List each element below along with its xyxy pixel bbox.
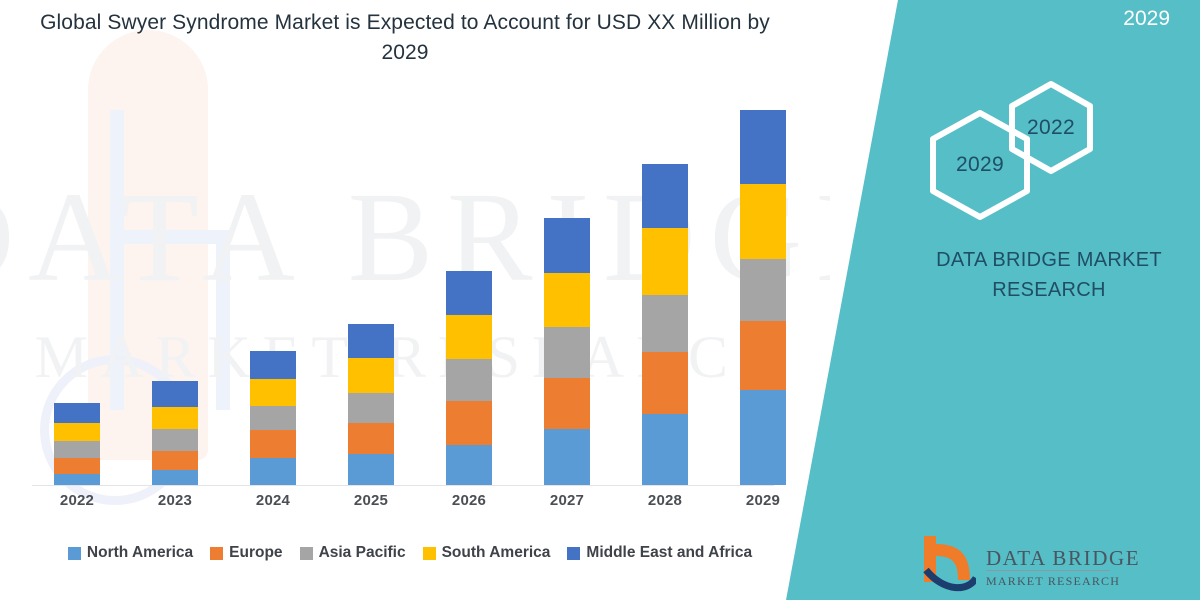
bar-segment-middle-east-and-africa	[740, 110, 786, 184]
plot-area	[40, 110, 800, 485]
bar-2024	[250, 351, 296, 485]
brand-name: DATA BRIDGE MARKET RESEARCH	[898, 245, 1200, 305]
bar-segment-north-america	[446, 445, 492, 485]
bar-segment-north-america	[642, 414, 688, 485]
bar-segment-middle-east-and-africa	[152, 381, 198, 407]
legend-swatch-icon	[423, 547, 436, 560]
bar-segment-north-america	[740, 390, 786, 485]
hexagon-group: 2029 2022	[898, 88, 1200, 218]
bar-segment-europe	[740, 321, 786, 391]
bar-segment-asia-pacific	[152, 429, 198, 450]
bar-segment-north-america	[152, 470, 198, 485]
footer-logo: DATA BRIDGE MARKET RESEARCH	[920, 534, 1200, 600]
bar-segment-south-america	[446, 315, 492, 359]
legend-item-south-america[interactable]: South America	[423, 544, 551, 562]
bar-segment-europe	[54, 458, 100, 474]
infographic-canvas: DATA BRIDGE MARKET RESEARCH Global Swyer…	[0, 0, 1200, 600]
bar-segment-asia-pacific	[544, 327, 590, 378]
bar-segment-north-america	[250, 458, 296, 485]
x-axis-label-2024: 2024	[250, 492, 296, 522]
legend-item-asia-pacific[interactable]: Asia Pacific	[300, 544, 406, 562]
legend-label: Asia Pacific	[319, 544, 406, 562]
panel-title: Market, By Regions, 2022 to 2029	[880, 0, 1170, 34]
bar-segment-south-america	[740, 184, 786, 259]
bar-segment-middle-east-and-africa	[642, 164, 688, 228]
brand-line-1: DATA BRIDGE MARKET	[898, 245, 1200, 275]
bar-segment-south-america	[642, 228, 688, 295]
bridge-logo-icon	[920, 534, 976, 592]
bar-2025	[348, 324, 394, 485]
bar-segment-europe	[446, 401, 492, 445]
legend-swatch-icon	[210, 547, 223, 560]
chart-title: Global Swyer Syndrome Market is Expected…	[40, 8, 770, 69]
bar-segment-south-america	[250, 379, 296, 406]
chart-title-line-1: Global Swyer Syndrome Market is Expected…	[40, 11, 641, 34]
bar-segment-europe	[250, 430, 296, 458]
brand-line-2: RESEARCH	[898, 275, 1200, 305]
x-axis-labels: 20222023202420252026202720282029	[40, 492, 800, 522]
x-axis-label-2022: 2022	[54, 492, 100, 522]
bar-segment-asia-pacific	[642, 295, 688, 352]
legend-swatch-icon	[300, 547, 313, 560]
brand-panel-content: Market, By Regions, 2022 to 2029 2029 20…	[898, 0, 1200, 600]
bar-2027	[544, 218, 590, 486]
panel-title-line-2: 2029	[880, 4, 1170, 34]
footer-logo-subtitle: MARKET RESEARCH	[986, 574, 1120, 589]
x-axis-label-2026: 2026	[446, 492, 492, 522]
bar-segment-north-america	[348, 454, 394, 485]
legend-item-middle-east-and-africa[interactable]: Middle East and Africa	[567, 544, 752, 562]
bar-segment-middle-east-and-africa	[54, 403, 100, 422]
bar-2028	[642, 164, 688, 485]
x-axis-label-2028: 2028	[642, 492, 688, 522]
bar-segment-south-america	[152, 407, 198, 430]
bar-segment-asia-pacific	[348, 393, 394, 423]
bar-segment-asia-pacific	[740, 259, 786, 320]
bar-segment-europe	[642, 352, 688, 414]
hexagon-2029-label: 2029	[956, 153, 1004, 177]
bar-segment-europe	[348, 423, 394, 454]
chart-legend: North AmericaEuropeAsia PacificSouth Ame…	[0, 538, 820, 568]
x-axis-label-2029: 2029	[740, 492, 786, 522]
x-axis-line	[32, 485, 774, 486]
bar-segment-south-america	[54, 423, 100, 441]
bar-segment-middle-east-and-africa	[348, 324, 394, 358]
bar-group	[40, 110, 800, 485]
bar-segment-south-america	[544, 273, 590, 327]
bar-segment-middle-east-and-africa	[446, 271, 492, 315]
bar-segment-north-america	[54, 474, 100, 485]
bar-2023	[152, 381, 198, 485]
legend-swatch-icon	[567, 547, 580, 560]
legend-label: South America	[442, 544, 551, 562]
bar-segment-europe	[544, 378, 590, 430]
bar-segment-middle-east-and-africa	[544, 218, 590, 274]
legend-label: North America	[87, 544, 193, 562]
hexagon-2022-label: 2022	[1027, 116, 1075, 140]
footer-logo-divider	[986, 570, 1110, 571]
bar-2026	[446, 271, 492, 485]
bar-2022	[54, 403, 100, 485]
x-axis-label-2027: 2027	[544, 492, 590, 522]
bar-segment-asia-pacific	[446, 359, 492, 401]
x-axis-label-2023: 2023	[152, 492, 198, 522]
bar-segment-middle-east-and-africa	[250, 351, 296, 379]
legend-swatch-icon	[68, 547, 81, 560]
legend-label: Europe	[229, 544, 282, 562]
legend-item-europe[interactable]: Europe	[210, 544, 282, 562]
chart-panel: DATA BRIDGE MARKET RESEARCH Global Swyer…	[0, 0, 830, 600]
bar-2029	[740, 110, 786, 485]
legend-item-north-america[interactable]: North America	[68, 544, 193, 562]
bar-segment-asia-pacific	[54, 441, 100, 458]
bar-segment-asia-pacific	[250, 406, 296, 431]
x-axis-label-2025: 2025	[348, 492, 394, 522]
hexagon-2022: 2022	[1006, 80, 1096, 175]
bar-segment-south-america	[348, 358, 394, 392]
bar-segment-europe	[152, 451, 198, 470]
footer-logo-name: DATA BRIDGE	[986, 546, 1140, 571]
bar-segment-north-america	[544, 429, 590, 485]
legend-label: Middle East and Africa	[586, 544, 752, 562]
